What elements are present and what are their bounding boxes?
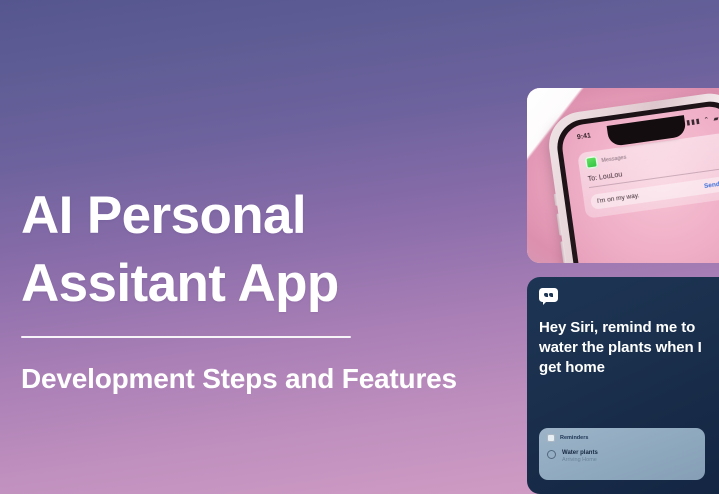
iphone-screen: 9:41 ▮▮▮ ⌃ ▰ Messages To: LouLou I'm on … [554,98,719,263]
presentation-slide: AI Personal Assitant App Development Ste… [0,0,719,494]
messages-app-name: Messages [601,155,627,164]
photo-backdrop: 9:41 ▮▮▮ ⌃ ▰ Messages To: LouLou I'm on … [527,88,719,263]
reminder-list-item[interactable]: Water plants Arriving Home [547,449,697,465]
page-title: AI Personal Assitant App [21,182,521,318]
message-body-text: I'm on my way. [597,192,640,205]
quote-bubble-shape [539,288,558,302]
iphone-photo-card: 9:41 ▮▮▮ ⌃ ▰ Messages To: LouLou I'm on … [527,88,719,263]
message-compose-sheet: Messages To: LouLou I'm on my way. Send [577,133,719,219]
messages-app-icon [585,156,599,170]
title-divider [21,336,351,338]
phone-mute-switch [554,194,559,206]
reminder-text-group: Water plants Arriving Home [562,449,598,465]
quote-mark-left [544,293,548,298]
title-block: AI Personal Assitant App Development Ste… [21,182,521,396]
iphone-device: 9:41 ▮▮▮ ⌃ ▰ Messages To: LouLou I'm on … [545,89,719,263]
reminder-item-subtitle: Arriving Home [562,457,598,464]
page-subtitle: Development Steps and Features [21,362,521,396]
quote-mark-right [549,293,553,298]
siri-quote-text: Hey Siri, remind me to water the plants … [539,318,713,378]
siri-quote-card: Hey Siri, remind me to water the plants … [527,277,719,494]
quote-bubble-icon [539,288,558,304]
reminder-item-title: Water plants [562,449,598,457]
status-bar-time: 9:41 [577,132,592,141]
reminder-checkbox[interactable] [547,450,556,459]
reminders-widget[interactable]: Reminders Water plants Arriving Home [539,428,705,480]
screen-wallpaper: 9:41 ▮▮▮ ⌃ ▰ Messages To: LouLou I'm on … [559,104,719,263]
reminders-widget-header: Reminders [547,434,697,442]
send-button[interactable]: Send [704,181,719,190]
reminders-widget-title: Reminders [560,435,588,441]
status-bar-icons: ▮▮▮ ⌃ ▰ [686,114,719,127]
reminders-app-icon [547,434,555,442]
